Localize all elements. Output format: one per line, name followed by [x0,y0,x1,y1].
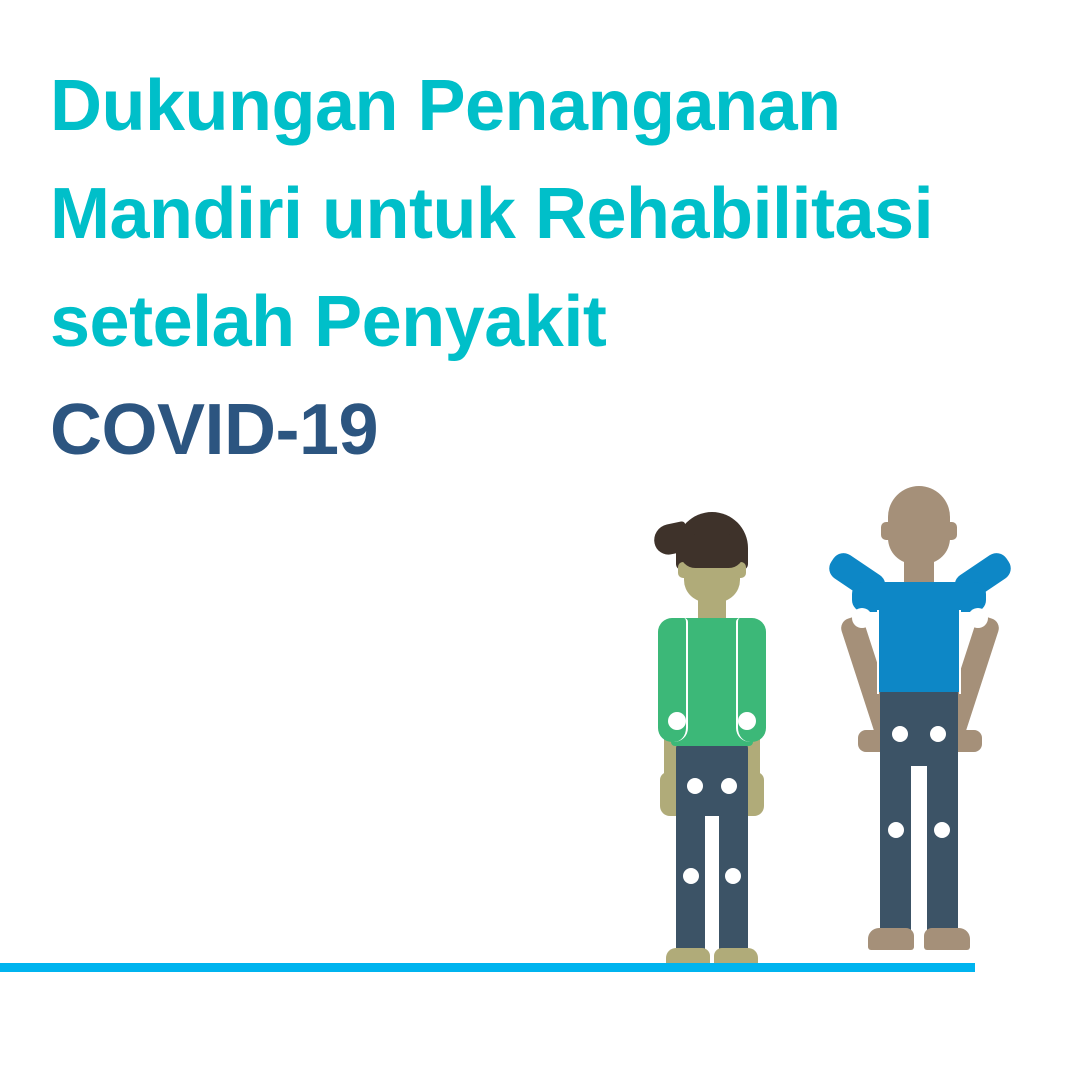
joint-knee-right [934,822,950,838]
title-line-2: Mandiri untuk Rehabilitasi [50,160,1040,268]
figure-woman [640,500,800,970]
joint-hip-left [687,778,703,794]
figure-man [800,478,1040,970]
shoulders [852,582,986,612]
title-line-3: setelah Penyakit [50,268,1040,376]
seam-left [877,610,879,694]
title-line-1: Dukungan Penanganan [50,52,1040,160]
joint-shoulder-right [738,712,756,730]
foot-left [868,928,914,950]
joint-hip-left [892,726,908,742]
foot-right [924,928,970,950]
page-title: Dukungan Penanganan Mandiri untuk Rehabi… [50,52,1040,484]
joint-knee-right [725,868,741,884]
joint-knee-left [683,868,699,884]
joint-hip-right [930,726,946,742]
seam-right [959,610,961,694]
leg-right [927,750,958,938]
joint-elbow-left [852,608,872,628]
head [888,486,950,564]
baseline-rule [0,963,975,972]
joint-shoulder-left [668,712,686,730]
leg-left [880,750,911,938]
title-line-covid: COVID-19 [50,376,1040,484]
poster-canvas: Dukungan Penanganan Mandiri untuk Rehabi… [0,0,1080,1080]
joint-elbow-right [968,608,988,628]
hair-fringe [680,534,744,568]
joint-knee-left [888,822,904,838]
joint-hip-right [721,778,737,794]
